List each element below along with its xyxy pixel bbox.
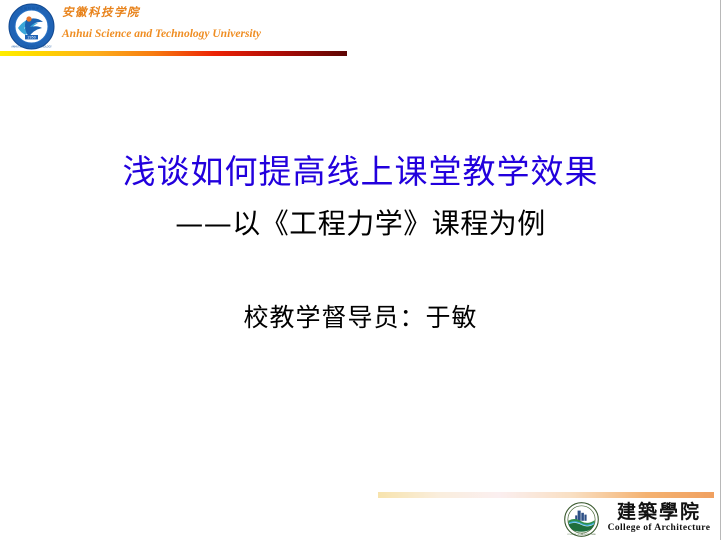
college-of-architecture-emblem-icon: COLLEGE OF ARCHITECTURE [564,502,599,537]
college-name-cn: 建築學院 [604,501,714,523]
page-title: 浅谈如何提高线上课堂教学效果 [0,150,721,194]
slide-header: 1950 安 徽 科 技 学 院 ANHUI SCIENCE AND TECHN… [0,0,721,60]
svg-text:COLLEGE OF ARCHITECTURE: COLLEGE OF ARCHITECTURE [567,533,596,536]
svg-text:ANHUI SCIENCE AND TECHNOLOGY: ANHUI SCIENCE AND TECHNOLOGY [11,45,52,48]
header-gradient-rule [0,51,347,56]
college-name-en: College of Architecture [604,523,714,534]
page-subtitle: ——以《工程力学》课程为例 [0,204,721,244]
svg-text:1950: 1950 [27,36,36,40]
university-emblem-icon: 1950 安 徽 科 技 学 院 ANHUI SCIENCE AND TECHN… [8,3,55,50]
footer-gradient-rule [378,492,714,498]
university-name-block: 安徽科技学院 Anhui Science and Technology Univ… [62,6,392,42]
university-name-cn: 安徽科技学院 [62,6,392,21]
presentation-slide: 1950 安 徽 科 技 学 院 ANHUI SCIENCE AND TECHN… [0,0,721,540]
college-name-block: 建築學院 College of Architecture [604,501,714,534]
college-logo-block: COLLEGE OF ARCHITECTURE 建築學院 College of … [564,501,714,539]
university-name-en: Anhui Science and Technology University [62,26,392,42]
svg-text:安 徽 科 技 学 院: 安 徽 科 技 学 院 [20,5,43,10]
presenter-line: 校教学督导员：于敏 [0,298,721,334]
title-block: 浅谈如何提高线上课堂教学效果 ——以《工程力学》课程为例 [0,150,721,244]
